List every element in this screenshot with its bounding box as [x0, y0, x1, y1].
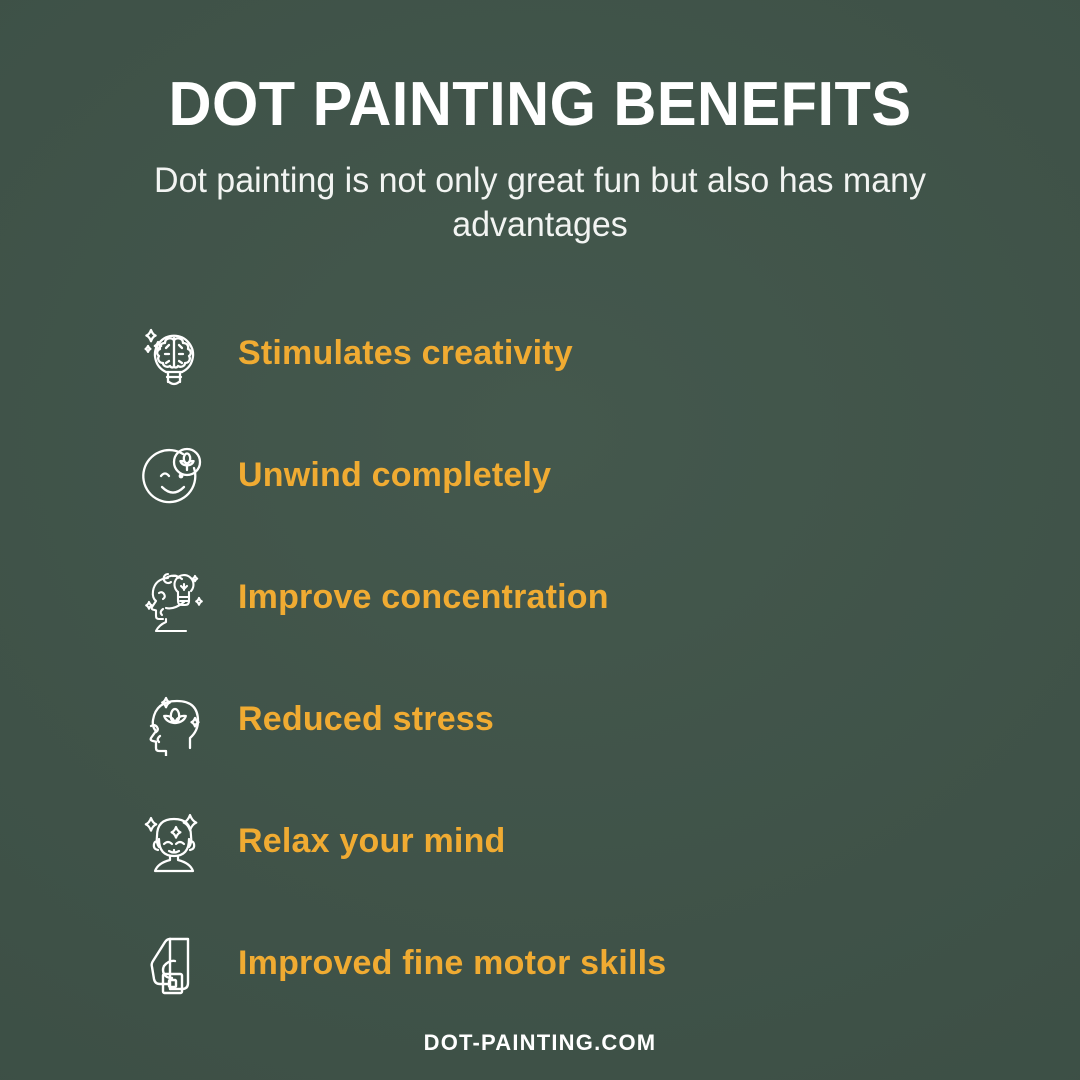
list-item: Relax your mind [138, 781, 1080, 903]
page-subtitle: Dot painting is not only great fun but a… [152, 159, 928, 247]
page-title: DOT PAINTING BENEFITS [168, 72, 911, 137]
head-profile-lotus-sparkle-icon [138, 684, 210, 756]
winking-smiley-flower-icon [138, 440, 210, 512]
benefit-label: Reduced stress [238, 700, 494, 739]
list-item: Stimulates creativity [138, 293, 1080, 415]
hand-holding-block-icon [138, 928, 210, 1000]
list-item: Improved fine motor skills [138, 903, 1080, 1025]
footer-website[interactable]: DOT-PAINTING.COM [0, 1030, 1080, 1056]
benefit-label: Improved fine motor skills [238, 944, 666, 983]
list-item: Reduced stress [138, 659, 1080, 781]
poster-canvas: DOT PAINTING BENEFITS Dot painting is no… [0, 0, 1080, 1080]
list-item: Unwind completely [138, 415, 1080, 537]
head-profile-lightbulb-icon [138, 562, 210, 634]
lightbulb-brain-sparkle-icon [138, 318, 210, 390]
benefits-list: Stimulates creativity Unwind completely [0, 293, 1080, 1025]
benefit-label: Stimulates creativity [238, 334, 573, 373]
benefit-label: Improve concentration [238, 578, 609, 617]
benefit-label: Unwind completely [238, 456, 551, 495]
calm-face-sparkle-icon [138, 806, 210, 878]
benefit-label: Relax your mind [238, 822, 506, 861]
list-item: Improve concentration [138, 537, 1080, 659]
